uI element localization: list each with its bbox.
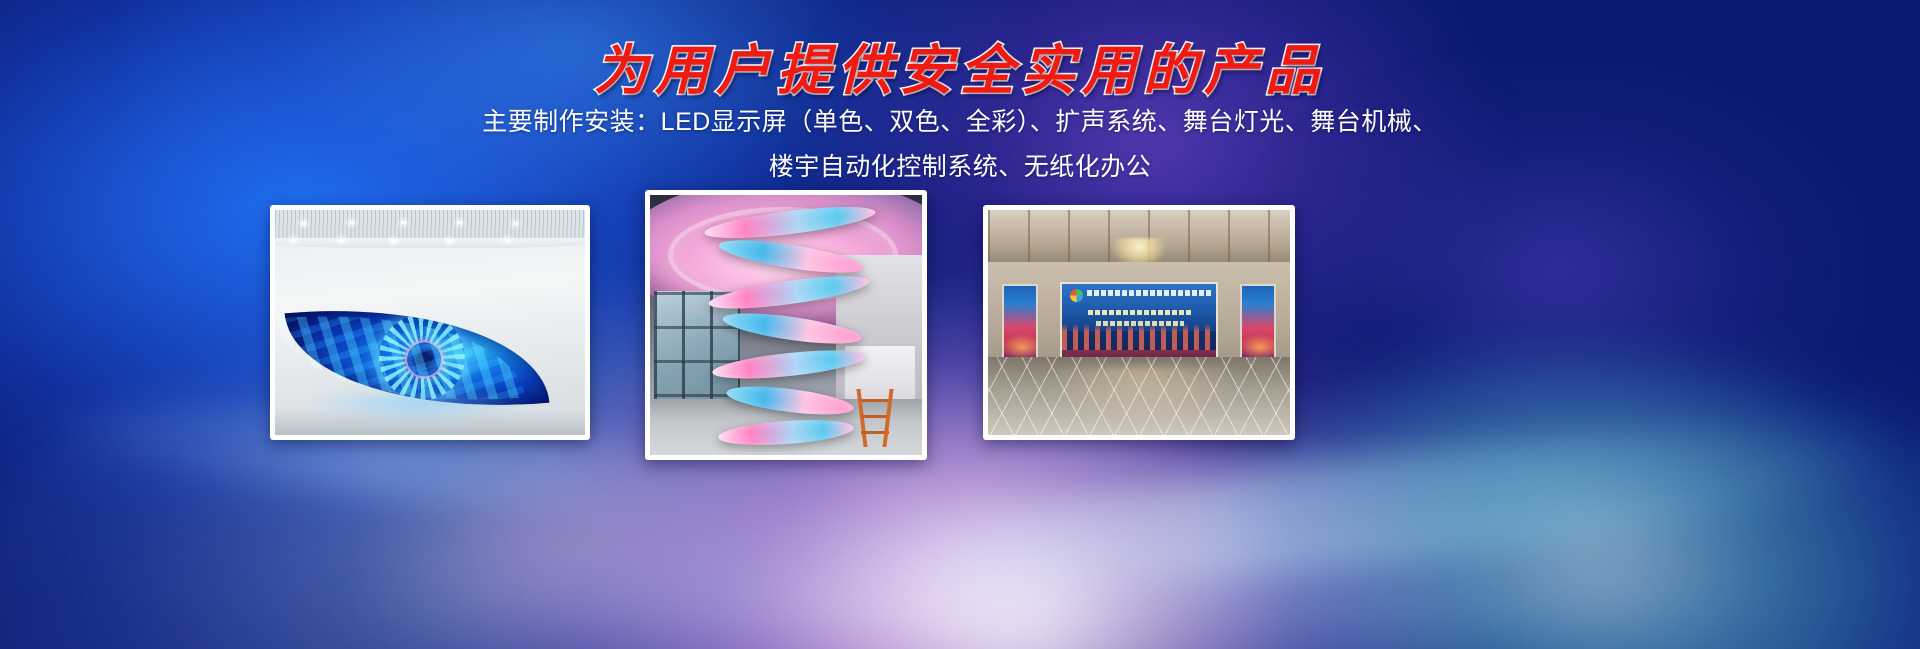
photo3-right-led-panel	[1240, 284, 1276, 368]
eye-shaped-led-display-image	[275, 210, 585, 435]
photo2-led-band	[707, 270, 871, 315]
photo2-led-band	[703, 201, 877, 245]
photo3-floor-reflection	[1043, 367, 1243, 431]
photo2-led-band	[711, 345, 867, 384]
photo1-ceiling-light	[513, 222, 518, 225]
photo1-ceiling	[275, 210, 585, 244]
photo2-led-band	[721, 307, 863, 349]
photo2-ladder-rung	[861, 415, 889, 418]
photo1-ceiling-light	[301, 222, 306, 225]
photo2-step-ladder	[858, 389, 892, 447]
photo3-left-led-panel	[1002, 284, 1038, 368]
photo1-ceiling-light	[447, 239, 452, 242]
gallery-photo-1[interactable]	[270, 205, 590, 440]
photo3-screen-title	[1087, 290, 1211, 296]
photo3-screen-skyline	[1062, 324, 1216, 349]
photo1-ceiling-light	[505, 239, 510, 242]
photo1-ceiling-light	[339, 239, 344, 242]
banquet-hall-led-image	[988, 210, 1290, 435]
photo3-screen-subtitle-2	[1096, 321, 1184, 326]
photo2-led-band	[717, 416, 854, 448]
photo3-screen-subtitle	[1088, 310, 1192, 315]
photo1-ceiling-light	[457, 221, 462, 224]
photo1-floor-glow	[305, 387, 535, 421]
gallery-photo-3[interactable]	[983, 205, 1295, 440]
photo2-ladder-rung	[861, 399, 889, 402]
photo1-ceiling-light	[291, 239, 296, 242]
promo-banner: 为用户提供安全实用的产品 主要制作安装：LED显示屏（单色、双色、全彩）、扩声系…	[0, 0, 1920, 649]
photo1-ceiling-light	[349, 221, 354, 224]
photo2-ladder-rung	[861, 431, 889, 434]
banner-gallery	[0, 0, 1920, 649]
spiral-led-display-image	[650, 195, 922, 455]
company-logo-icon	[1070, 289, 1083, 302]
photo2-led-band	[717, 234, 865, 280]
photo1-ceiling-light	[401, 221, 406, 224]
gallery-photo-2[interactable]	[645, 190, 927, 460]
photo2-led-band	[725, 381, 855, 419]
photo1-ceiling-light	[391, 239, 396, 242]
